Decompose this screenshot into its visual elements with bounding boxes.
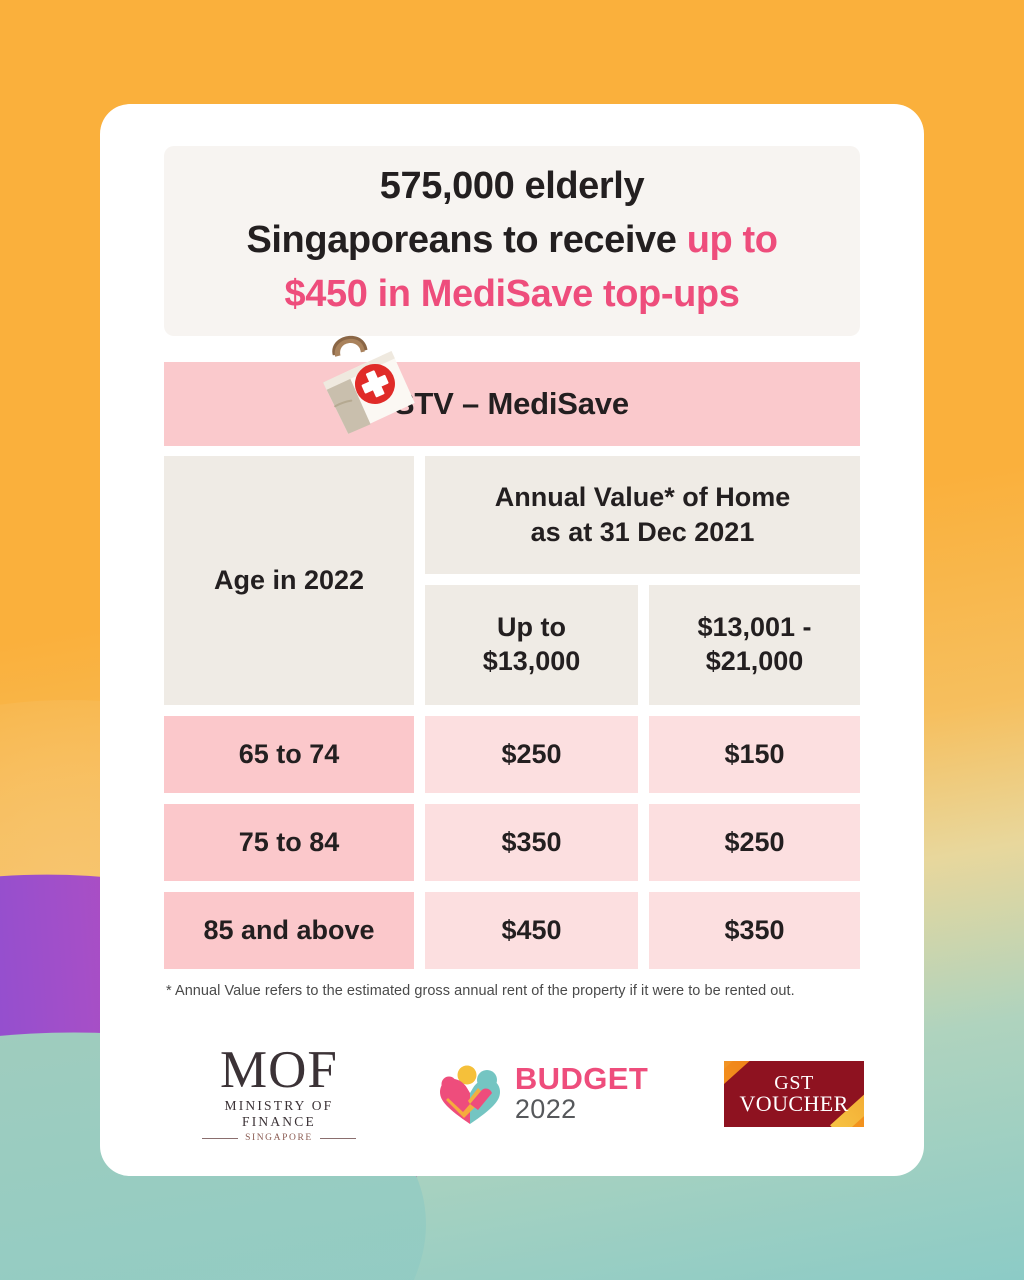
medical-bag-icon xyxy=(291,318,425,446)
bracket-2-line-1: $13,001 - xyxy=(697,612,811,642)
section-band: GSTV – MediSave xyxy=(164,362,860,446)
annual-value-header: Annual Value* of Home as at 31 Dec 2021 xyxy=(425,456,860,574)
table-row: 65 to 74 $250 $150 xyxy=(164,716,860,793)
bracket-2-header: $13,001 - $21,000 xyxy=(649,585,860,705)
mof-subtitle: MINISTRY OF FINANCE xyxy=(198,1098,360,1130)
bracket-1-line-1: Up to xyxy=(497,612,566,642)
row-bracket-1-value: $350 xyxy=(425,804,638,881)
gstv-line-2: VOUCHER xyxy=(740,1093,849,1115)
row-bracket-1-value: $450 xyxy=(425,892,638,969)
mof-rule-left xyxy=(202,1138,238,1139)
row-bracket-2-value: $350 xyxy=(649,892,860,969)
headline-panel: 575,000 elderly Singaporeans to receive … xyxy=(164,146,860,336)
budget-2022-logo: BUDGET 2022 xyxy=(434,1058,648,1130)
mof-wordmark: MOF xyxy=(198,1045,360,1096)
headline-line-2-accent: up to xyxy=(687,219,778,261)
age-column-header: Age in 2022 xyxy=(164,456,414,705)
mof-country-row: SINGAPORE xyxy=(198,1133,360,1143)
logo-strip: MOF MINISTRY OF FINANCE SINGAPORE BUDGET xyxy=(164,1039,864,1149)
infographic-card: 575,000 elderly Singaporeans to receive … xyxy=(100,104,924,1176)
bracket-1-line-2: $13,000 xyxy=(483,646,581,676)
annual-value-header-line-2: as at 31 Dec 2021 xyxy=(531,517,755,547)
row-age-label: 65 to 74 xyxy=(164,716,414,793)
annual-value-bracket-row: Up to $13,000 $13,001 - $21,000 xyxy=(425,585,860,705)
row-bracket-1-value: $250 xyxy=(425,716,638,793)
benefits-table: Age in 2022 Annual Value* of Home as at … xyxy=(164,456,860,980)
gst-voucher-logo: GST VOUCHER xyxy=(724,1061,864,1127)
budget-wordmark-group: BUDGET 2022 xyxy=(515,1063,648,1124)
mof-logo: MOF MINISTRY OF FINANCE SINGAPORE xyxy=(198,1045,360,1144)
budget-heart-icon xyxy=(434,1058,506,1130)
page-title: 575,000 elderly Singaporeans to receive … xyxy=(246,160,777,322)
row-age-label: 85 and above xyxy=(164,892,414,969)
headline-line-3-accent: $450 in MediSave top-ups xyxy=(285,273,740,315)
mof-country: SINGAPORE xyxy=(245,1133,313,1143)
headline-line-2-plain: Singaporeans to receive xyxy=(246,219,686,261)
headline-line-1: 575,000 elderly xyxy=(380,165,644,207)
bracket-2-line-2: $21,000 xyxy=(706,646,804,676)
gstv-wordmark: GST VOUCHER xyxy=(740,1073,849,1115)
annual-value-header-line-1: Annual Value* of Home xyxy=(495,482,791,512)
row-bracket-2-value: $250 xyxy=(649,804,860,881)
row-age-label: 75 to 84 xyxy=(164,804,414,881)
budget-year: 2022 xyxy=(515,1094,648,1124)
table-row: 85 and above $450 $350 xyxy=(164,892,860,969)
table-header-row: Age in 2022 Annual Value* of Home as at … xyxy=(164,456,860,705)
gstv-line-1: GST xyxy=(740,1073,849,1093)
table-row: 75 to 84 $350 $250 xyxy=(164,804,860,881)
annual-value-header-group: Annual Value* of Home as at 31 Dec 2021 … xyxy=(425,456,860,705)
mof-rule-right xyxy=(320,1138,356,1139)
footnote: * Annual Value refers to the estimated g… xyxy=(166,983,866,999)
row-bracket-2-value: $150 xyxy=(649,716,860,793)
bracket-1-header: Up to $13,000 xyxy=(425,585,638,705)
budget-wordmark: BUDGET xyxy=(515,1063,648,1094)
